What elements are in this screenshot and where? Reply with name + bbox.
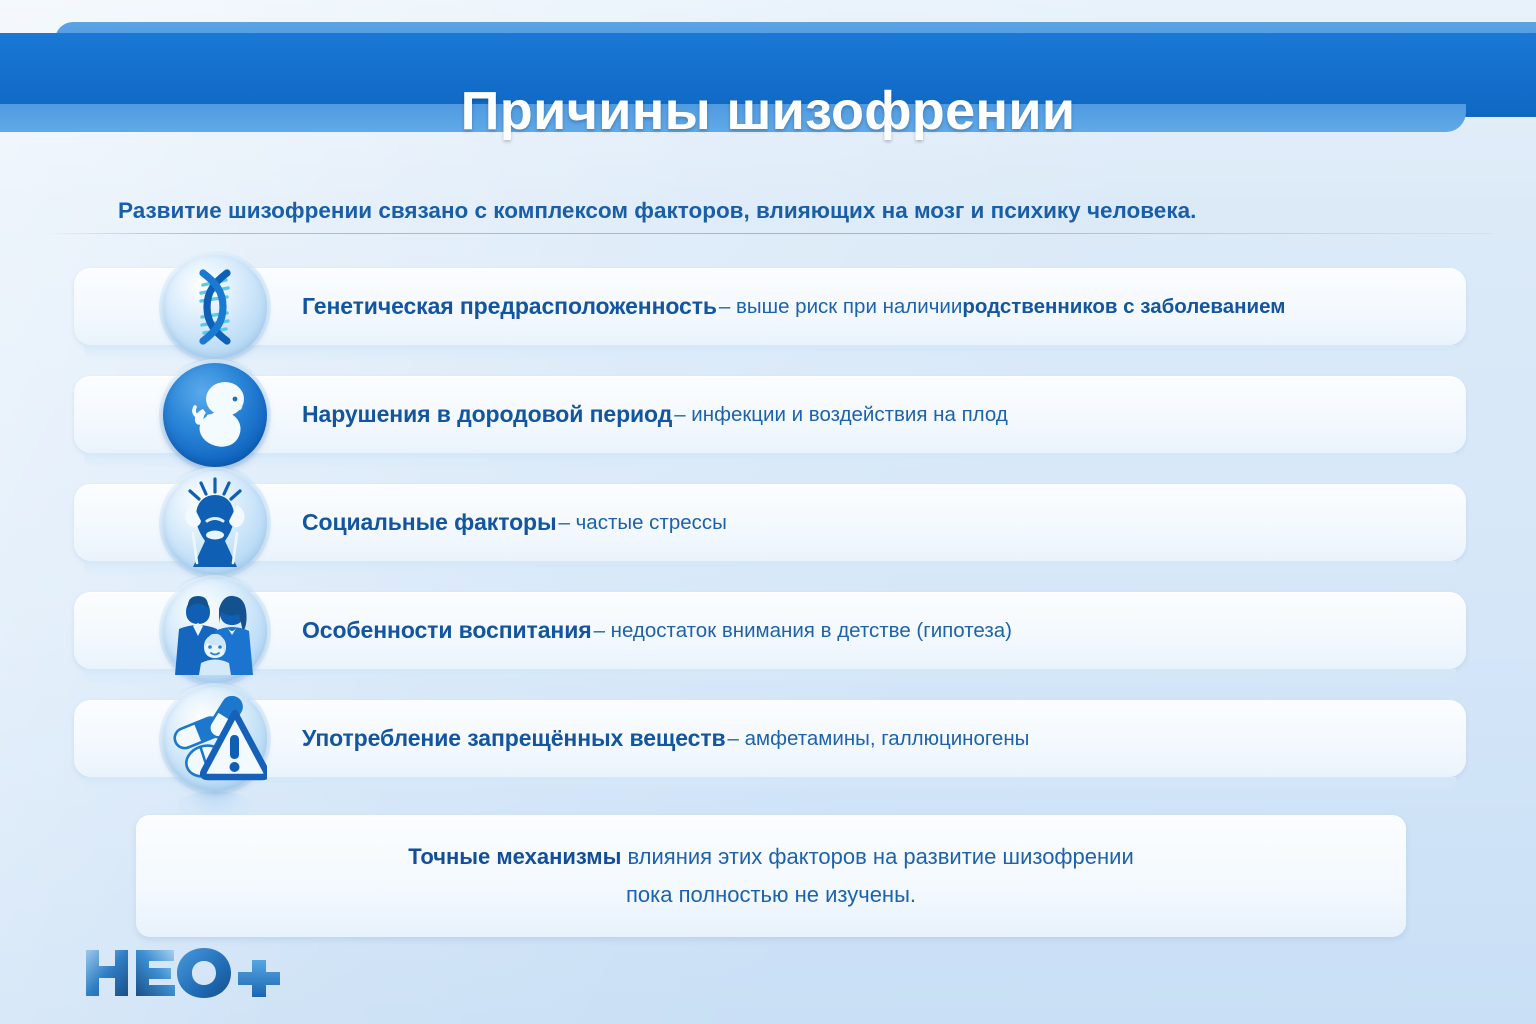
infographic-poster: Причины шизофрении Развитие шизофрении с… <box>0 0 1536 1024</box>
factor-lead: Особенности воспитания <box>302 617 592 644</box>
factor-tail: – амфетамины, галлюциногены <box>728 727 1030 751</box>
factor-text: Социальные факторы – частые стрессы <box>302 484 1446 561</box>
factor-lead: Социальные факторы <box>302 509 557 536</box>
factor-card[interactable]: Нарушения в дородовой период – инфекции … <box>74 376 1466 453</box>
factor-list: Генетическая предрасположенность – выше … <box>74 268 1466 808</box>
conclusion-line-1: Точные механизмы влияния этих факторов н… <box>408 845 1133 869</box>
factor-tail: – частые стрессы <box>559 511 727 535</box>
factor-tail: – выше риск при наличии <box>719 295 962 319</box>
intro-divider <box>44 233 1492 234</box>
factor-card[interactable]: Социальные факторы – частые стрессы <box>74 484 1466 561</box>
factor-card[interactable]: Генетическая предрасположенность – выше … <box>74 268 1466 345</box>
factor-card[interactable]: Особенности воспитания – недостаток вним… <box>74 592 1466 669</box>
factor-lead: Употребление запрещённых веществ <box>302 725 726 752</box>
fetus-icon <box>163 363 267 467</box>
factor-tail: – инфекции и воздействия на плод <box>674 403 1008 427</box>
intro-text: Развитие шизофрении связано с комплексом… <box>118 196 1448 225</box>
page-title: Причины шизофрении <box>0 69 1536 153</box>
factor-lead: Нарушения в дородовой период <box>302 401 672 428</box>
conclusion-box: Точные механизмы влияния этих факторов н… <box>136 815 1406 937</box>
factor-tail-strong: родственников с заболеванием <box>962 295 1285 319</box>
factor-tail: – недостаток внимания в детстве (гипотез… <box>594 619 1012 643</box>
factor-lead: Генетическая предрасположенность <box>302 293 717 320</box>
conclusion-strong: Точные механизмы <box>408 844 621 869</box>
header: Причины шизофрении <box>0 0 1536 140</box>
factor-text: Употребление запрещённых веществ – амфет… <box>302 700 1446 777</box>
conclusion-line-2: пока полностью не изучены. <box>626 883 916 907</box>
family-icon <box>163 579 267 683</box>
conclusion-rest: влияния этих факторов на развитие шизофр… <box>621 844 1133 869</box>
factor-text: Особенности воспитания – недостаток вним… <box>302 592 1446 669</box>
dna-icon <box>163 255 267 359</box>
factor-text: Генетическая предрасположенность – выше … <box>302 268 1446 345</box>
stress-head-icon <box>163 471 267 575</box>
factor-card[interactable]: Употребление запрещённых веществ – амфет… <box>74 700 1466 777</box>
logo-neo-plus[interactable] <box>82 944 292 1002</box>
factor-text: Нарушения в дородовой период – инфекции … <box>302 376 1446 453</box>
pills-warning-icon <box>163 687 267 791</box>
